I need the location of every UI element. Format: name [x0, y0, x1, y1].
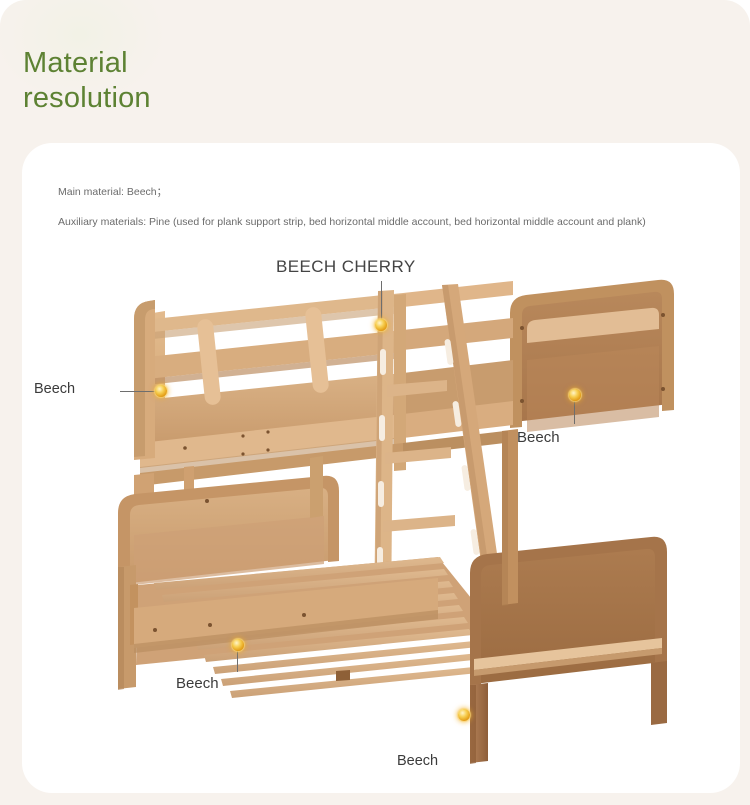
callout-marker-beech-bottom-left[interactable] — [232, 639, 244, 651]
page-title: Material resolution — [23, 46, 151, 116]
callout-leader-beech-left — [120, 391, 160, 392]
page-root: Material resolution Main material: Beech… — [0, 0, 750, 805]
material-card: Main material: Beech； Auxiliary material… — [22, 143, 740, 793]
lower-bunk-footboard — [470, 537, 667, 764]
callout-marker-beech-cherry[interactable] — [375, 319, 387, 331]
callout-label-beech-right: Beech — [517, 430, 560, 446]
callout-label-beech-left: Beech — [34, 381, 75, 397]
callout-label-beech-bottom-left: Beech — [176, 676, 219, 692]
upper-bunk-right-post — [502, 429, 518, 606]
upper-bunk-guardrail — [134, 293, 403, 474]
callout-leader-beech-cherry — [381, 281, 382, 324]
callout-label-beech-bottom: Beech — [397, 753, 438, 769]
upper-bunk-far-headboard — [510, 280, 674, 432]
callout-marker-beech-left[interactable] — [155, 385, 167, 397]
callout-label-beech-cherry: BEECH CHERRY — [276, 259, 416, 275]
bunk-bed-illustration — [22, 143, 740, 793]
callout-marker-beech-right[interactable] — [569, 389, 581, 401]
callout-marker-beech-bottom[interactable] — [458, 709, 470, 721]
